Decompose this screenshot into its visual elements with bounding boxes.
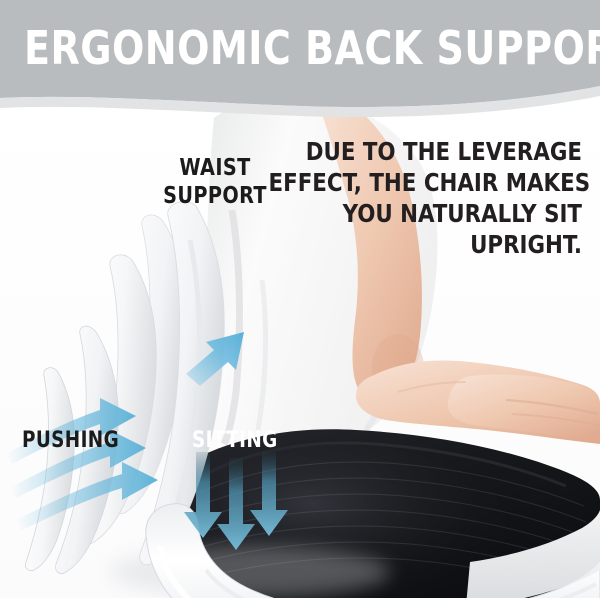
callout-pushing: PUSHING [22,428,134,454]
lede-line-2: EFFECT, THE CHAIR MAKES [269,167,583,198]
callout-sitting-label: SITTING [192,428,304,454]
callout-waist-line-1: WAIST [156,154,273,182]
page-title: ERGONOMIC BACK SUPPORT [24,22,576,74]
callout-waist-line-2: SUPPORT [156,182,273,210]
callout-sitting: SITTING [192,428,304,454]
callout-waist-support: WAIST SUPPORT [156,154,273,210]
header-band: ERGONOMIC BACK SUPPORT [0,0,600,122]
lede-line-3: YOU NATURALLY SIT [269,198,583,229]
infographic-canvas: ERGONOMIC BACK SUPPORT DUE TO THE LEVERA… [0,0,600,598]
lede-line-4: UPRIGHT. [269,229,583,260]
lede-paragraph: DUE TO THE LEVERAGE EFFECT, THE CHAIR MA… [269,136,583,260]
lede-line-1: DUE TO THE LEVERAGE [269,136,583,167]
callout-pushing-label: PUSHING [22,428,134,454]
